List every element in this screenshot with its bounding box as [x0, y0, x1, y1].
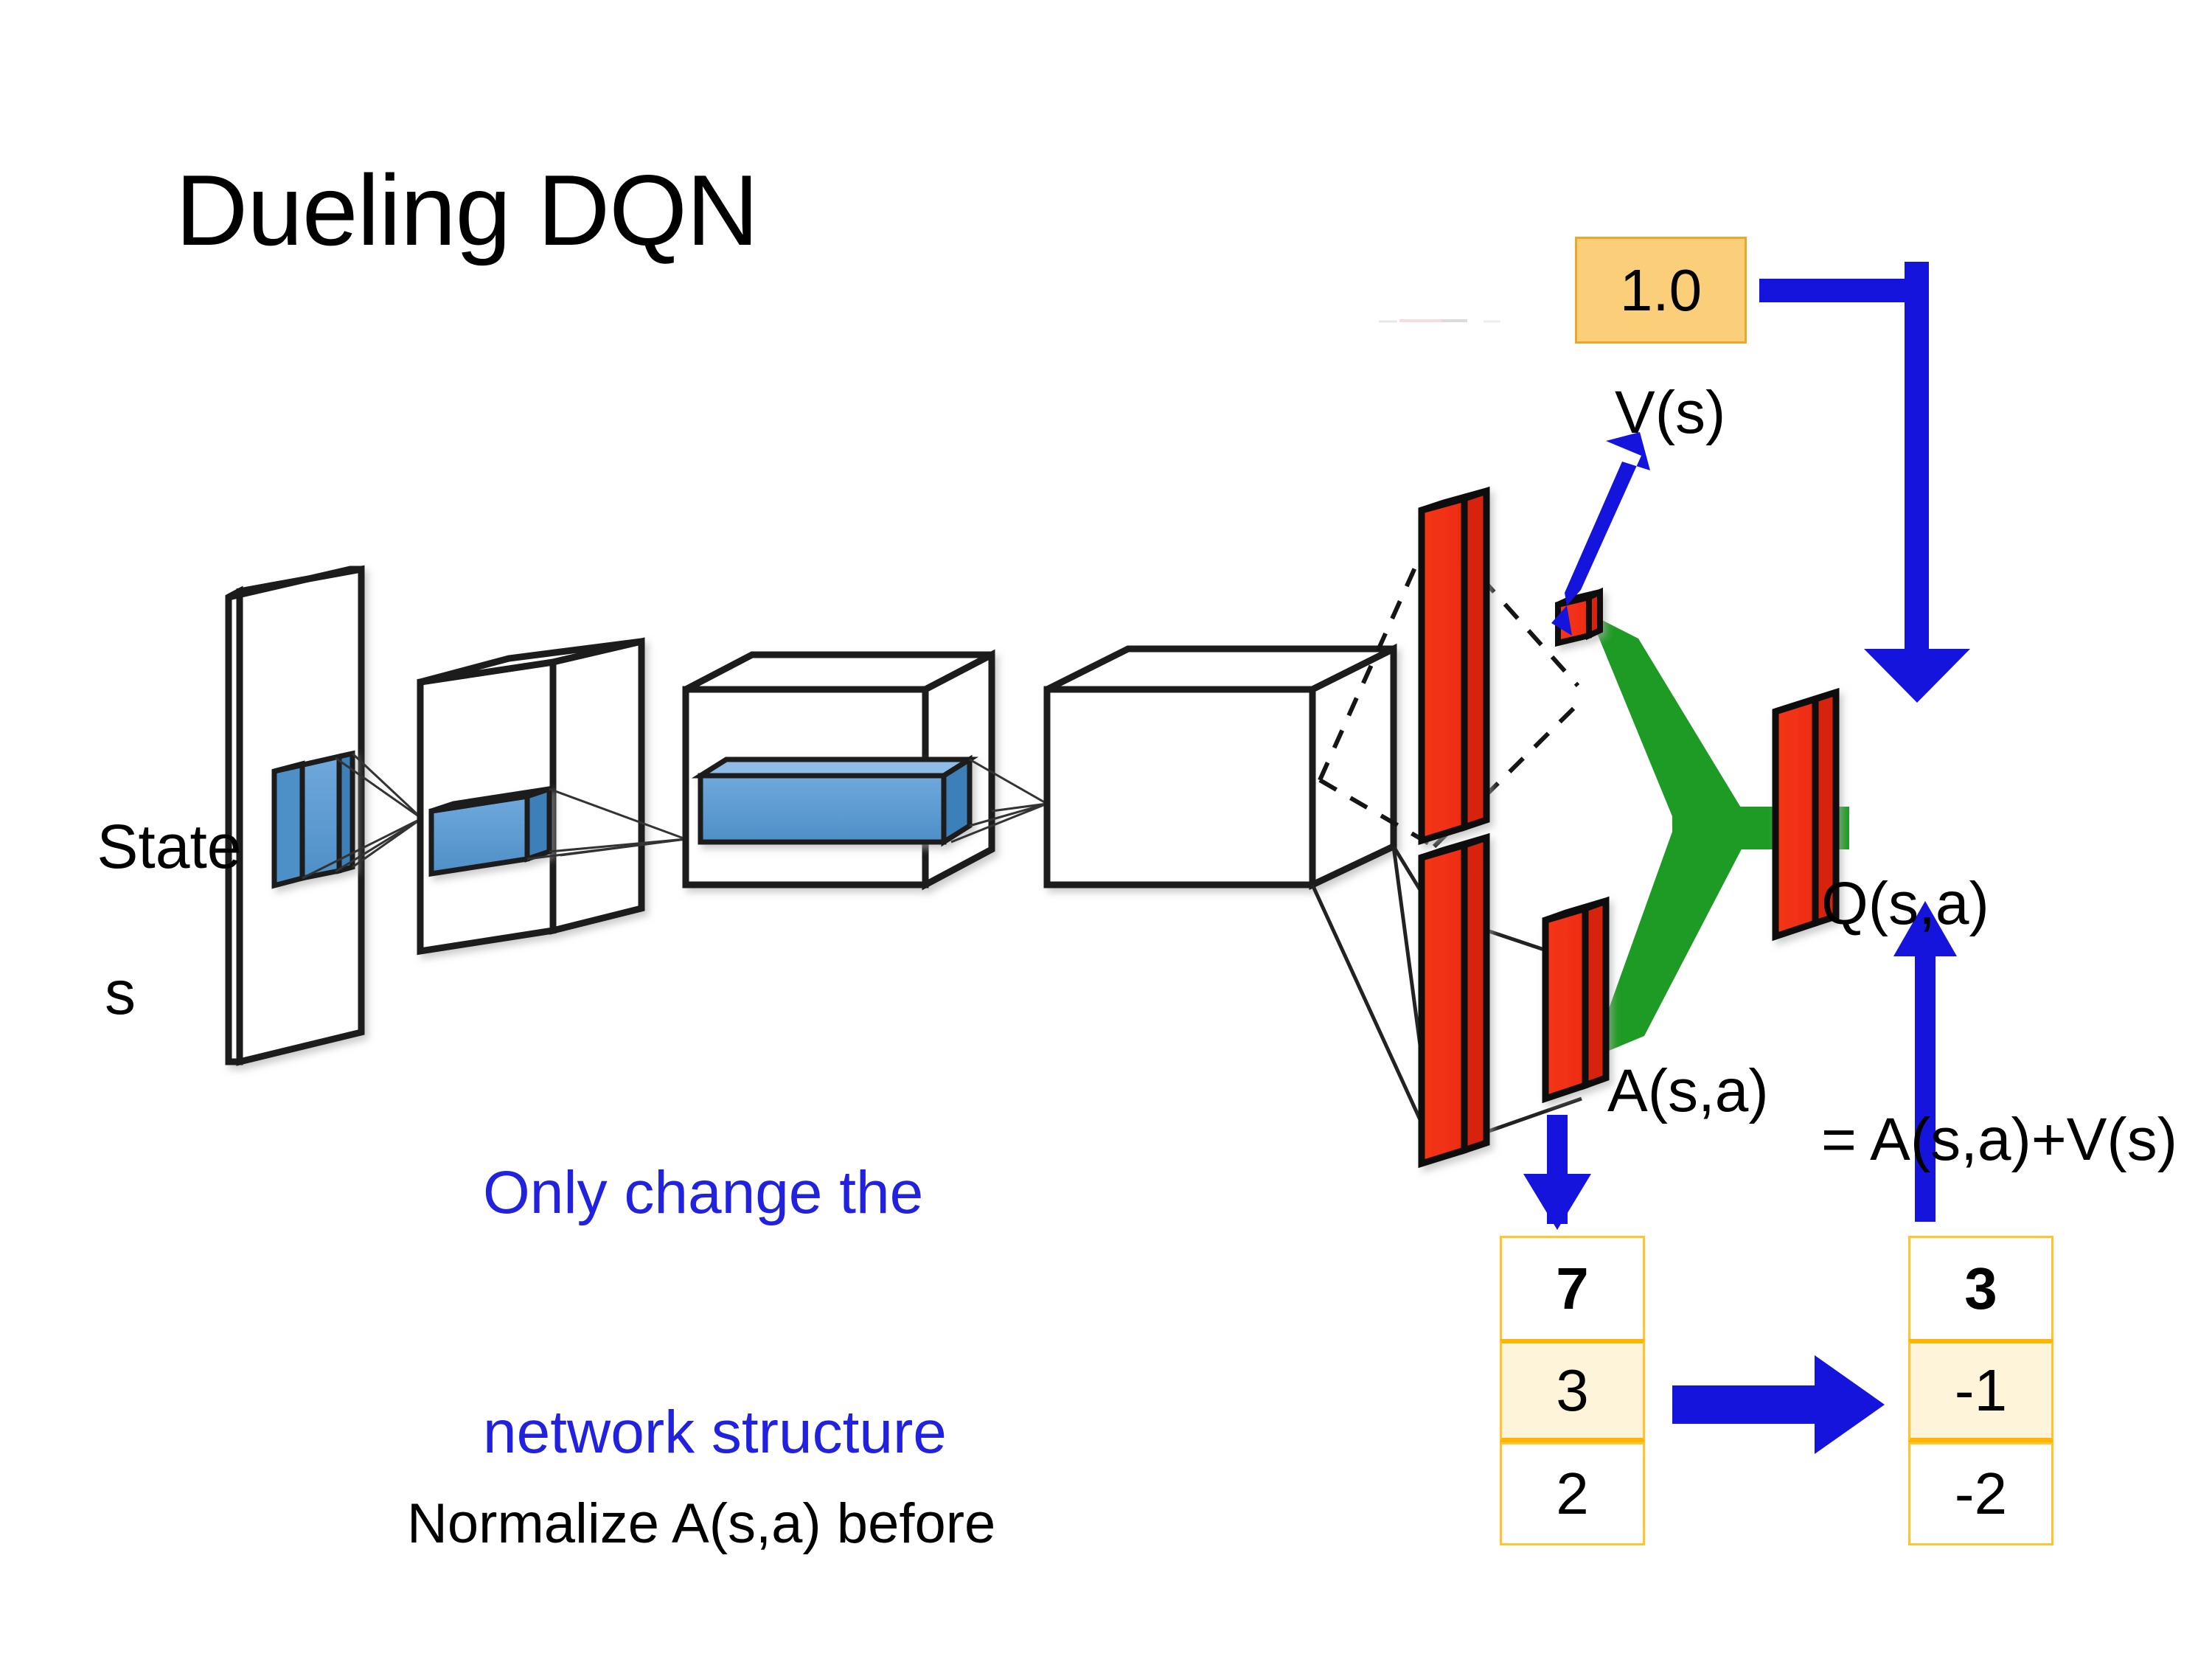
value-function-label: V(s)	[1615, 378, 1725, 449]
state-label: State s	[28, 737, 212, 1176]
table-row: 2	[1500, 1442, 1645, 1545]
q-function-label-line2: = A(s,a)+V(s)	[1821, 1101, 2177, 1180]
page-title: Dueling DQN	[175, 151, 758, 269]
normalized-advantage-table: 3 -1 -2	[1908, 1236, 2053, 1545]
slide-canvas: Dueling DQN State s Only change the netw…	[0, 0, 2212, 1659]
table-row: 3	[1908, 1236, 2053, 1339]
advantage-output-bar	[1545, 901, 1606, 1099]
value-scalar-box: 1.0	[1575, 237, 1747, 344]
table-row: 7	[1500, 1236, 1645, 1339]
value-hidden-bar	[1422, 491, 1486, 841]
table-row: -2	[1908, 1442, 2053, 1545]
fc-block	[1047, 649, 1394, 885]
arrow-down-icon-advantage	[1523, 1115, 1591, 1230]
normalize-note-line1: Normalize A(s,a) before	[407, 1486, 995, 1563]
advantage-function-label: A(s,a)	[1607, 1056, 1769, 1127]
feature-slab-2	[700, 759, 970, 842]
state-label-line1: State	[97, 812, 241, 881]
input-receptive-field	[274, 754, 352, 886]
arrow-right-icon-normalize	[1672, 1355, 1885, 1454]
table-row: 3	[1500, 1339, 1645, 1442]
normalize-note: Normalize A(s,a) before adding with V(s)	[407, 1331, 995, 1659]
network-structure-note-line1: Only change the	[483, 1153, 947, 1233]
arrow-elbow-down-icon	[1759, 262, 1970, 703]
q-function-label-line1: Q(s,a)	[1821, 865, 2177, 944]
table-row: -1	[1908, 1339, 2053, 1442]
advantage-hidden-bar	[1422, 838, 1486, 1164]
faint-artifact	[1379, 321, 1500, 321]
advantage-value-table: 7 3 2	[1500, 1236, 1645, 1545]
state-label-line2: s	[28, 956, 212, 1029]
